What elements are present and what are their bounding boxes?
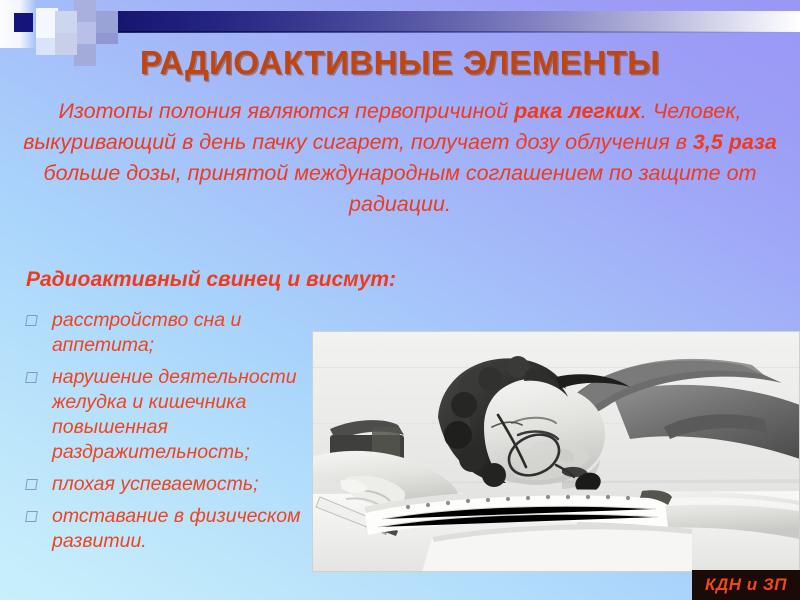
decor-square-lavender-top [74,0,96,22]
decor-square-blue-top [96,11,118,33]
status-badge: КДН и ЗП [692,570,800,600]
list-item-label: отставание в физическом развитии. [52,505,300,552]
header-band-edge [118,31,800,33]
list-item: нарушение деятельности желудка и кишечни… [20,365,330,465]
hollow-square-bullet-icon [25,315,38,326]
decor-square-navy [14,13,33,32]
intro-text-part3: больше дозы, принятой международным согл… [44,161,757,216]
list-item: плохая успеваемость; [20,472,330,497]
hollow-square-bullet-icon [25,511,38,522]
symptom-list: расстройство сна и аппетита; нарушение д… [20,308,330,561]
intro-text-part1: Изотопы полония являются первопричиной [59,99,515,123]
decor-square-pale-top [55,11,77,33]
hollow-square-bullet-icon [25,372,38,383]
intro-paragraph: Изотопы полония являются первопричиной р… [14,96,786,220]
list-item-label: нарушение деятельности желудка и кишечни… [52,366,297,463]
presentation-slide: РАДИОАКТИВНЫЕ ЭЛЕМЕНТЫ Изотопы полония я… [0,0,800,600]
hollow-square-bullet-icon [25,479,38,490]
badge-label: КДН и ЗП [705,575,787,595]
list-item: расстройство сна и аппетита; [20,308,330,358]
list-item: отставание в физическом развитии. [20,504,330,554]
sleeping-student-photo [312,331,800,572]
section-heading: Радиоактивный свинец и висмут: [26,268,396,292]
header-gradient-band [118,11,800,32]
intro-emphasis-dose-factor: 3,5 раза [693,130,777,154]
list-item-label: расстройство сна и аппетита; [52,309,241,356]
list-item-label: плохая успеваемость; [52,473,259,495]
decor-square-lavender-mid [74,22,96,44]
intro-emphasis-lung-cancer: рака легких [514,99,641,123]
slide-title: РАДИОАКТИВНЫЕ ЭЛЕМЕНТЫ [0,44,800,82]
decor-square-blue-bottom [96,33,118,44]
